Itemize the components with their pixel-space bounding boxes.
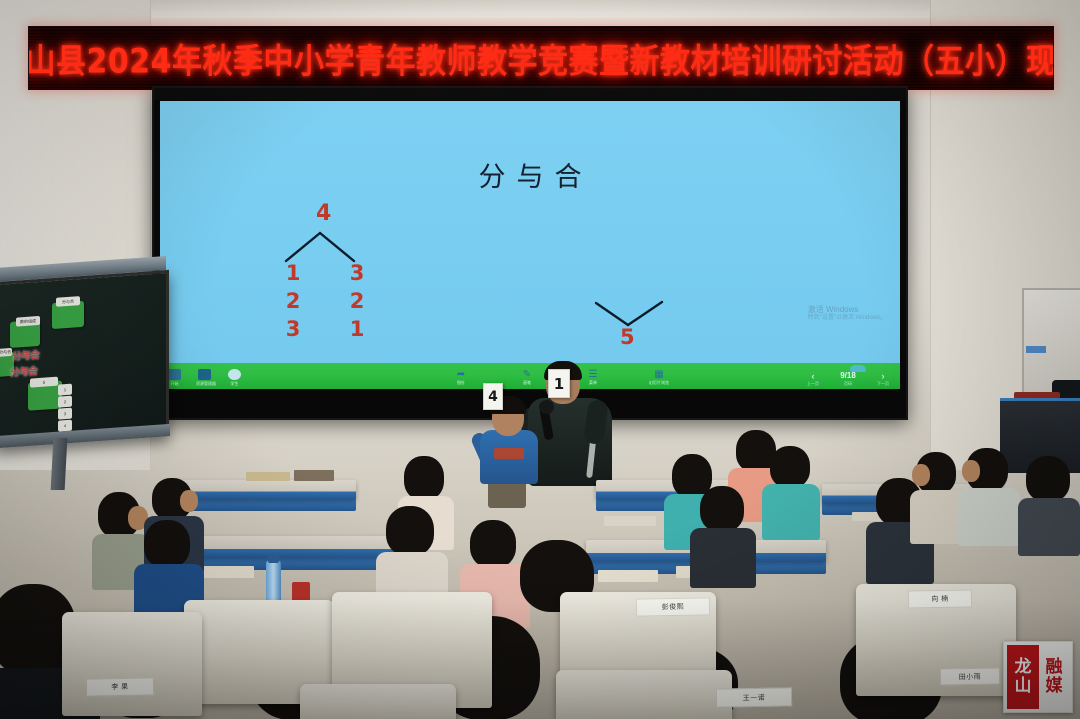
decomposition-whole: 4 [316,201,331,226]
taskbar-explorer-button[interactable]: 资源管理器 [196,369,213,387]
prev-slide-label: 上一页 [802,381,824,387]
start-icon [168,369,181,380]
desk-paper-2 [598,570,658,582]
combination-diagram-5: 5 [592,299,668,361]
chair-nametag-6: 田小雨 [940,667,1000,685]
next-slide-button[interactable]: › 下一页 [872,371,894,387]
chair-front-1 [556,670,732,719]
slide-tool-grid[interactable]: ▦ 幻灯片浏览 [644,369,674,386]
slide-tool-label-0: 指针 [446,380,476,386]
taskbar-label-1: 资源管理器 [196,381,213,387]
blackboard-strip-2: 3 [58,408,72,420]
chevron-left-icon: ‹ [802,371,824,381]
broadcaster-logo: 龙 山 融 媒 [1003,641,1073,713]
windows-activation-watermark: 激活 Windows 转到"设置"以激活 Windows。 [808,305,886,323]
pupil-head [470,520,516,568]
water-bottle-cap [268,554,279,563]
chair-front-2 [300,684,456,719]
desk-paper-1 [196,566,254,578]
screen-bezel [154,88,906,100]
chair-nametag-2: 彭俊熙 [636,597,710,616]
blackboard-label-1: 数的组成 [16,316,40,327]
prev-slide-button[interactable]: ‹ 上一页 [802,371,824,387]
classroom-scene: 龙山县2024年秋季中小学青年教师教学竞赛暨新教材培训研讨活动（五小）现场 分与… [0,0,1080,719]
pupil-head [1026,456,1070,502]
teacher-number-card: 1 [548,369,570,398]
chevron-right-icon: › [872,371,894,381]
student-shirt-logo [494,448,524,459]
logo-left-block: 龙 山 [1007,645,1039,709]
grid-icon: ▦ [644,369,674,380]
led-banner-text: 龙山县2024年秋季中小学青年教师教学竞赛暨新教材培训研讨活动（五小）现场 [28,33,1054,82]
blackboard-strip-0: 1 [58,384,72,396]
pupil-head [386,506,434,556]
decomposition-left-2: 2 [282,291,304,312]
pupil-body [690,528,756,588]
logo-char-shan: 山 [1015,677,1032,696]
watermark-line-2: 转到"设置"以激活 Windows。 [808,315,886,323]
next-slide-label: 下一页 [872,381,894,387]
microphone-head [539,400,554,414]
page-indicator-value: 9/18 [834,371,862,381]
chair-nametag-3: 向 楠 [908,589,972,608]
slide-tool-pointer[interactable]: ➦ 指针 [446,369,476,386]
decomposition-left-3: 3 [282,319,304,340]
decomposition-right-column: 3 2 1 [346,263,368,347]
blackboard-chalk-text-1: 分与合 [12,346,39,363]
decomposition-diagram-4: 4 1 2 3 3 2 1 [268,201,378,336]
desk-top-mid-left [180,536,410,558]
slide-title: 分与合 [160,155,900,194]
blackboard-strip-1: 2 [58,396,72,408]
chair-nametag-5: 王一诺 [716,687,792,707]
watermark-line-1: 激活 Windows [808,305,886,315]
blackboard-label-0: 分与合 [56,296,80,307]
blackboard-label-2: 4的分与合 [0,348,12,357]
student-legs [488,482,526,508]
windows-taskbar[interactable]: 开始 资源管理器 学生 [166,369,243,387]
page-indicator: 9/18 页码 [834,371,862,387]
desk-book-2 [294,470,334,481]
blackboard: 分与合 数的组成 4的分与合 5 分与合 分与合 1 2 3 4 [0,270,169,448]
pupil-body [958,488,1020,546]
pupil-face [912,464,930,486]
desk-book-3 [604,516,656,526]
blackboard-chalk-text-2: 分与合 [10,362,37,379]
pupil-head [770,446,810,488]
student-number-card: 4 [483,383,503,410]
ceiling-strip [0,0,1080,18]
pupil-head [144,520,190,568]
pupil-body [1018,498,1080,556]
slide-tool-label-3: 幻灯片浏览 [644,380,674,386]
page-indicator-label: 页码 [834,381,862,387]
decomposition-left-column: 1 2 3 [282,263,304,347]
chair-back-5 [62,612,202,716]
decomposition-right-2: 2 [346,291,368,312]
pupil-face [962,460,980,482]
led-banner: 龙山县2024年秋季中小学青年教师教学竞赛暨新教材培训研讨活动（五小）现场 [28,26,1054,90]
logo-right-block: 融 媒 [1039,645,1069,709]
decomposition-right-1: 3 [346,263,368,284]
logo-char-long: 龙 [1015,658,1032,677]
presentation-slide[interactable]: 分与合 4 1 2 3 3 2 1 [160,101,900,389]
combination-result: 5 [620,325,635,349]
slide-navigation[interactable]: ‹ 上一页 9/18 页码 › 下一页 [802,371,894,387]
pupil-face [180,490,198,512]
desk-book-1 [246,472,290,481]
pointer-icon: ➦ [446,369,476,380]
pupil-head [700,486,744,532]
logo-char-rong: 融 [1046,658,1063,677]
taskbar-label-2: 学生 [226,381,243,387]
logo-char-mei: 媒 [1046,677,1063,696]
taskbar-user-button[interactable]: 学生 [226,369,243,387]
decomposition-left-1: 1 [282,263,304,284]
user-icon [228,369,241,380]
folder-icon [198,369,211,380]
whiteboard-label-tag [1026,346,1046,353]
chair-nametag-4: 李 果 [86,677,154,696]
blackboard-stand [51,438,68,490]
desk-top-back-left [176,480,356,500]
pupil-head [404,456,444,500]
decomposition-right-3: 1 [346,319,368,340]
pupil-body [762,484,820,540]
